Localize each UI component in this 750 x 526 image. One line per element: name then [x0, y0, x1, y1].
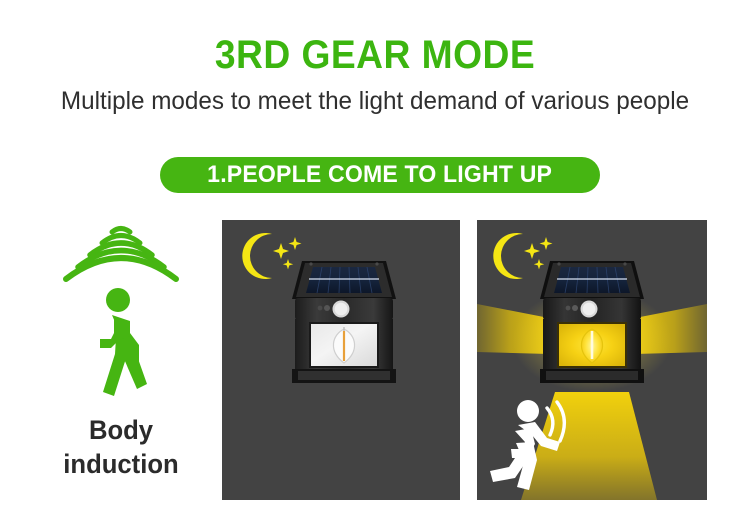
solar-wall-lamp-lit — [540, 253, 644, 398]
running-person-icon — [485, 398, 571, 499]
feature-caption: Body induction — [35, 413, 208, 482]
sensor-waves-icon — [56, 222, 186, 289]
body-induction-feature: Body induction — [30, 218, 212, 500]
product-feature-page: 3RD GEAR MODE Multiple modes to meet the… — [0, 0, 750, 526]
walking-person-icon — [78, 288, 164, 413]
page-subtitle: Multiple modes to meet the light demand … — [11, 87, 739, 116]
panel-lamp-on — [477, 220, 707, 500]
mode-banner-label: 1.PEOPLE COME TO LIGHT UP — [208, 163, 553, 187]
panel-lamp-off — [222, 220, 460, 500]
page-title: 3RD GEAR MODE — [26, 33, 724, 78]
mode-banner: 1.PEOPLE COME TO LIGHT UP — [160, 157, 600, 193]
feature-caption-line1: Body — [35, 413, 208, 447]
feature-caption-line2: induction — [35, 447, 208, 481]
solar-wall-lamp-unlit — [292, 253, 396, 398]
